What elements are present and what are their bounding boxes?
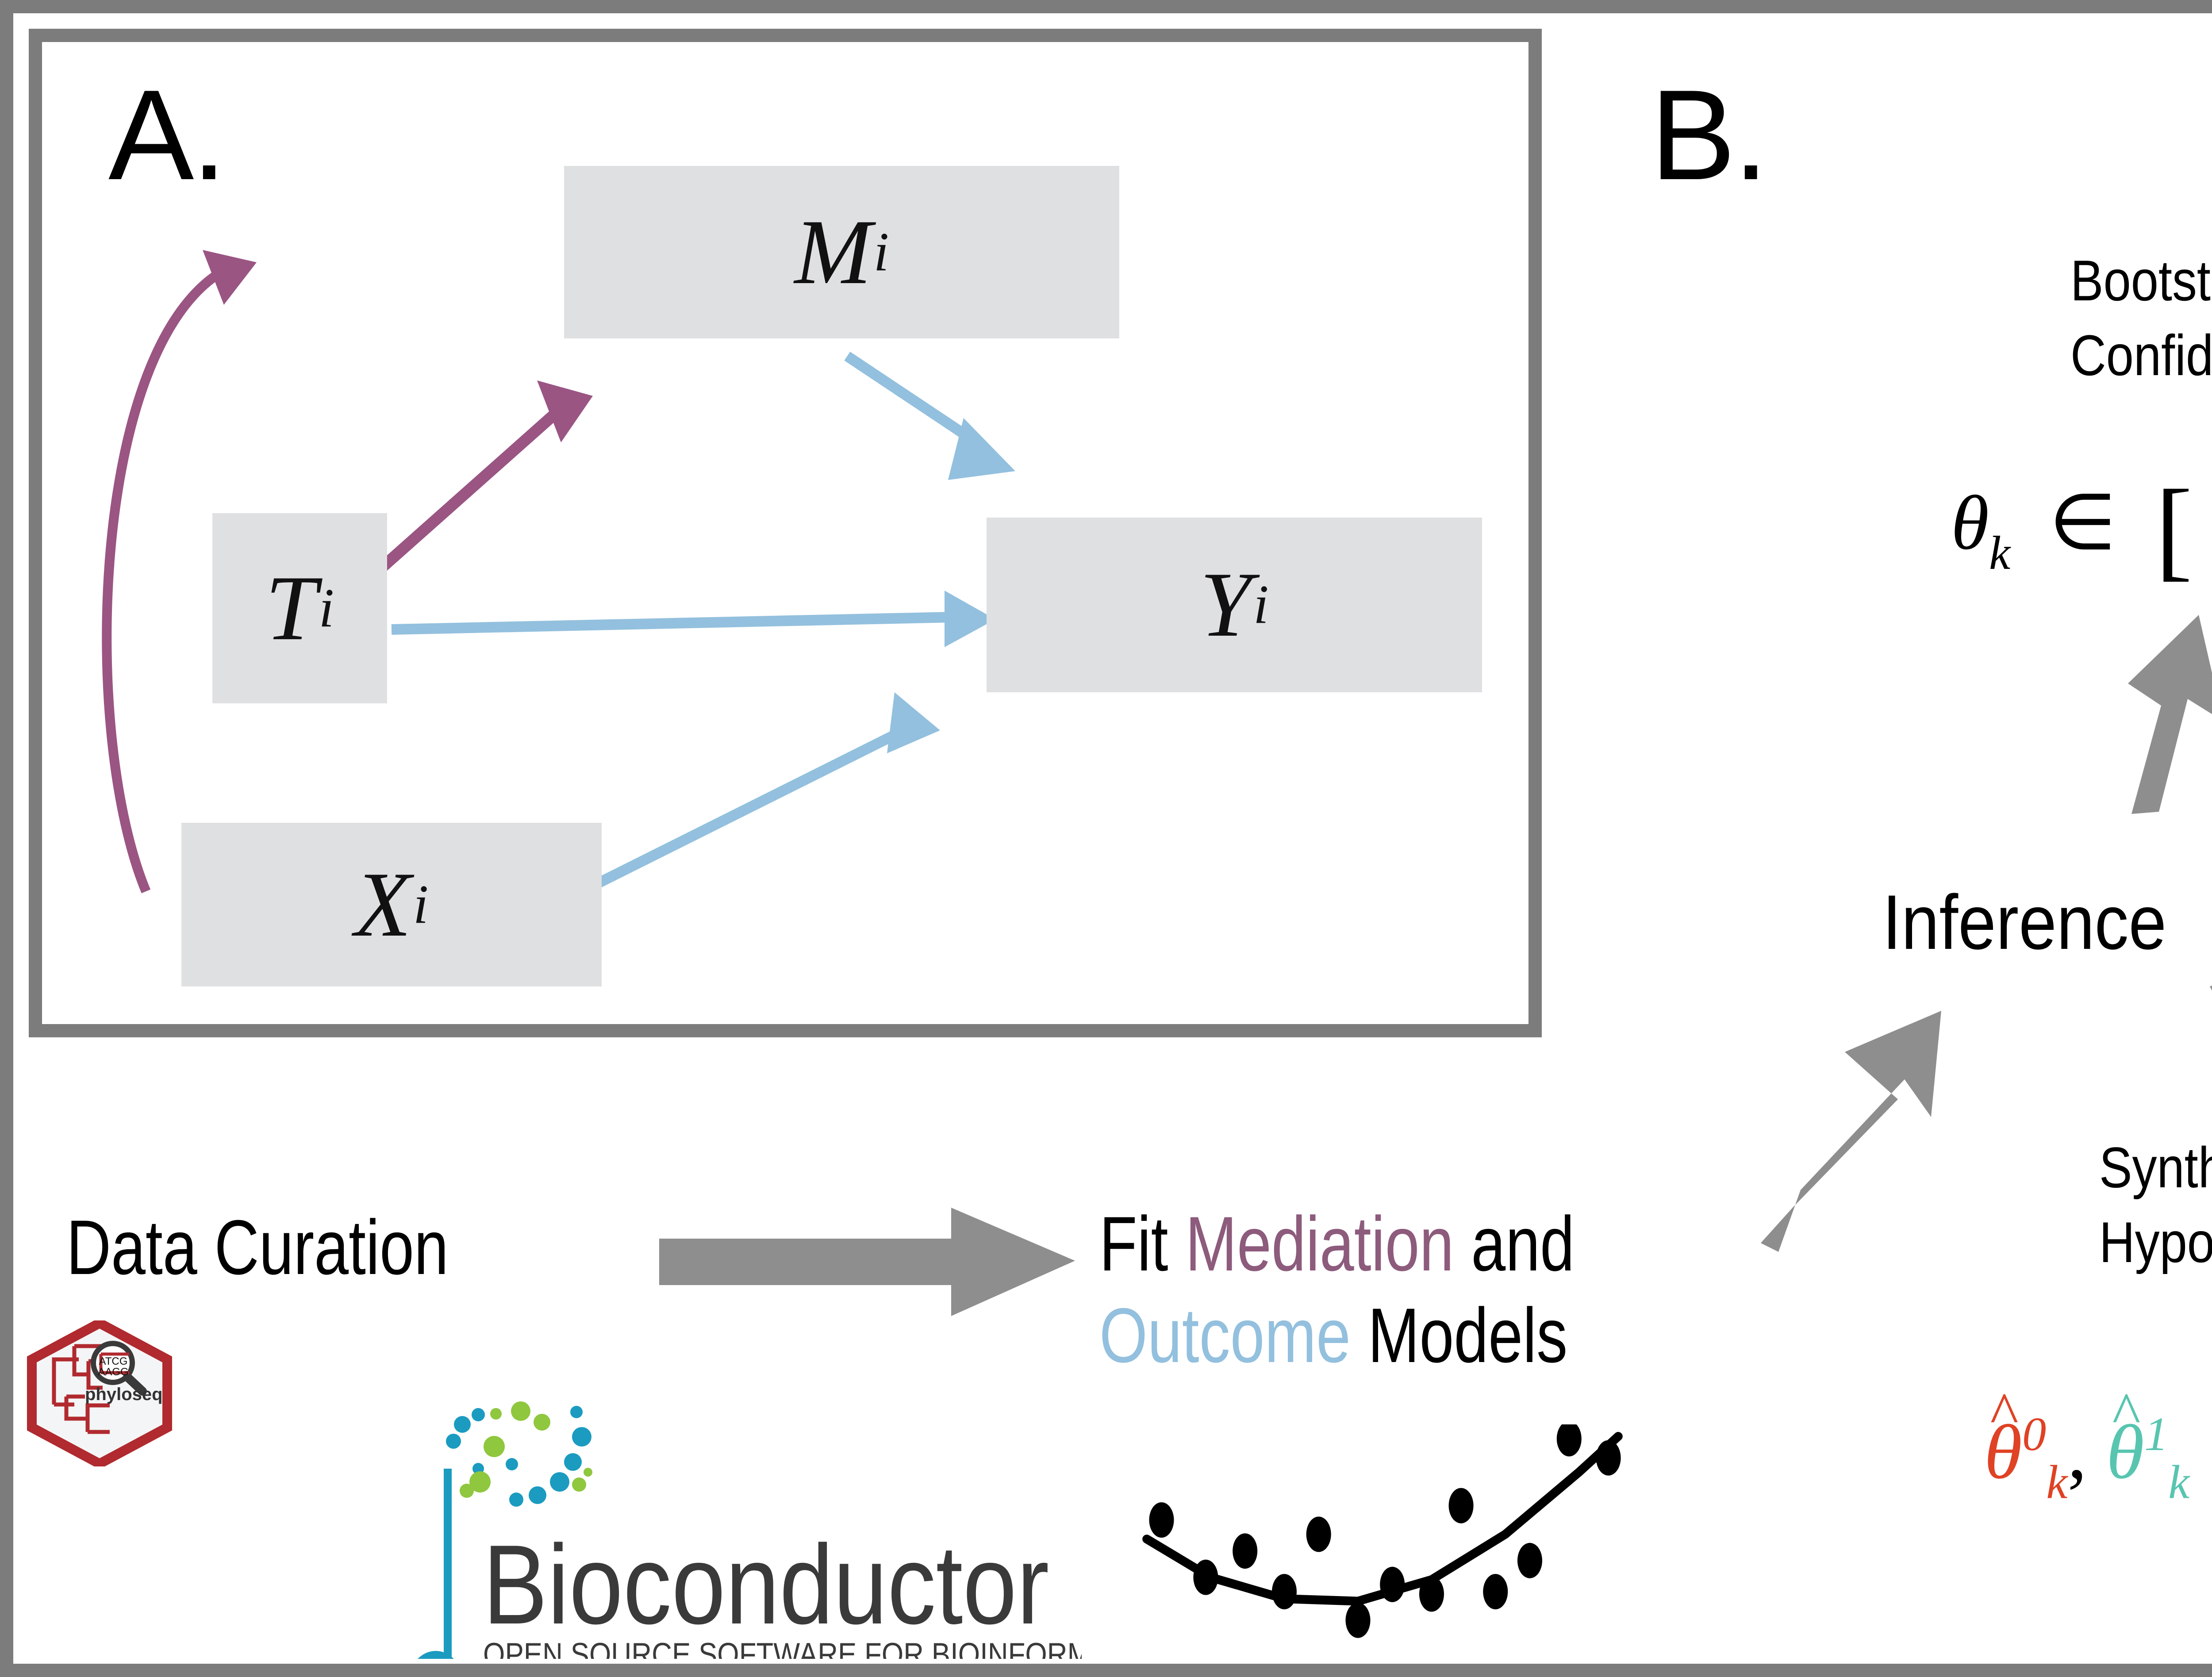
theta-alt-subscript: k [2168, 1455, 2189, 1508]
scatter-point [1517, 1543, 1542, 1578]
synthetic-null-heading: Synthetic Null Hypothesis Testing [2099, 1130, 2212, 1280]
fit-suffix: and [1454, 1201, 1574, 1287]
dag-node-t-subscript: i [319, 577, 334, 640]
scatter-point [1483, 1574, 1508, 1609]
data-curation-arrow [659, 1208, 1075, 1332]
phyloseq-seq-line2: AAGG [98, 1366, 128, 1378]
phyloseq-seq-line1: ATCG [99, 1355, 128, 1367]
phyloseq-logo: ATCG AAGG phyloseq [27, 1320, 173, 1466]
right-arrow-icon [659, 1208, 1075, 1316]
dag-node-t-label: T [265, 555, 317, 662]
dag-node-x: Xi [181, 823, 602, 986]
scatter-point [1193, 1560, 1218, 1595]
phyloseq-wordmark: phyloseq [85, 1385, 163, 1404]
bootstrap-heading: Bootstrap Confidence Intervals [2070, 243, 2212, 393]
data-curation-label: Data Curation [66, 1203, 449, 1292]
element-of-symbol: ∈ [2049, 480, 2116, 565]
scatter-point [1419, 1576, 1444, 1612]
dag-node-y-label: Y [1200, 552, 1252, 658]
theta-legend: ^θ0k, ^θ1k [1984, 1407, 2189, 1510]
scatter-point [1449, 1488, 1474, 1523]
scatter-point [1272, 1574, 1297, 1609]
edge-t-to-y-line [392, 617, 953, 629]
scatter-point [1380, 1567, 1405, 1602]
scatter-point [1149, 1502, 1174, 1538]
mediation-word: Mediation [1185, 1201, 1454, 1287]
scatter-points [1149, 1424, 1621, 1638]
hat-accent-icon: ^ [1990, 1383, 2019, 1444]
bootstrap-ci-formula: θk ∈ [ ^θLk, ^θUk ] [1951, 464, 2212, 594]
fit-models-label: Fit Mediation and Outcome Models [1099, 1199, 1575, 1382]
bioconductor-wordmark: Bioconductor [483, 1522, 1049, 1648]
dag-node-y-subscript: i [1253, 573, 1269, 637]
theta-alt-superscript: 1 [2144, 1408, 2168, 1461]
panel-b-letter: B. [1650, 71, 1766, 199]
theta-null-superscript: 0 [2022, 1408, 2046, 1461]
dag-node-t: Ti [212, 513, 387, 703]
theta-null-subscript: k [2046, 1455, 2067, 1508]
scatter-point [1346, 1603, 1371, 1638]
fit-prefix: Fit [1099, 1201, 1185, 1287]
edge-x-to-y-line [599, 728, 909, 883]
theta-symbol: θ [1951, 480, 1989, 565]
scatter-point [1306, 1516, 1331, 1552]
edge-t-to-m-arrowhead [537, 380, 593, 442]
dag-node-x-subscript: i [413, 873, 429, 936]
models-suffix: Models [1351, 1293, 1567, 1379]
dag-node-x-label: X [354, 852, 411, 958]
dag-node-y: Yi [987, 518, 1482, 692]
bioconductor-tagline: OPEN SOURCE SOFTWARE FOR BIOINFORMATICS [483, 1637, 1082, 1659]
open-bracket: [ [2155, 467, 2193, 591]
edge-x-to-m-curve [107, 276, 215, 891]
hat-accent-icon: ^ [2112, 1383, 2140, 1444]
bootstrap-heading-line1: Bootstrap [2070, 243, 2212, 318]
edge-x-to-y-arrowhead [887, 692, 940, 753]
bootstrap-heading-line2: Confidence Intervals [2070, 318, 2212, 393]
dag-node-m: Mi [564, 166, 1119, 338]
theta-hat-alt-group: ^θ1k [2106, 1409, 2189, 1495]
theta-legend-comma: , [2067, 1409, 2087, 1495]
outcome-word: Outcome [1099, 1293, 1351, 1379]
bioconductor-logo: Bioconductor OPEN SOURCE SOFTWARE FOR BI… [392, 1336, 1082, 1659]
fit-models-line2: Outcome Models [1099, 1290, 1575, 1382]
dag-node-m-label: M [795, 199, 872, 306]
theta-hat-null-group: ^θ0k [1984, 1409, 2067, 1495]
theta-subscript-k: k [1989, 526, 2010, 579]
scatter-point [1557, 1424, 1582, 1456]
synthetic-null-line2: Hypothesis Testing [2099, 1205, 2212, 1280]
arrow-to-synthetic-null-icon [2210, 973, 2212, 1148]
model-fit-scatter [1137, 1424, 1628, 1663]
arrow-to-bootstrap-icon [2128, 615, 2212, 814]
synthetic-null-line1: Synthetic Null [2099, 1130, 2212, 1205]
dna-dots-icon [446, 1401, 592, 1507]
figure-canvas: A. Mi Ti Yi Xi B. Bootstrap Confidence I… [0, 0, 2212, 1677]
musical-note-icon [407, 1469, 464, 1659]
arrow-to-inference-icon [1761, 1011, 1941, 1252]
dag-node-m-subscript: i [874, 221, 889, 284]
scatter-point [1596, 1440, 1621, 1476]
fit-models-line1: Fit Mediation and [1099, 1199, 1575, 1290]
scatter-point [1233, 1533, 1257, 1569]
edge-m-to-y-line [847, 356, 980, 445]
